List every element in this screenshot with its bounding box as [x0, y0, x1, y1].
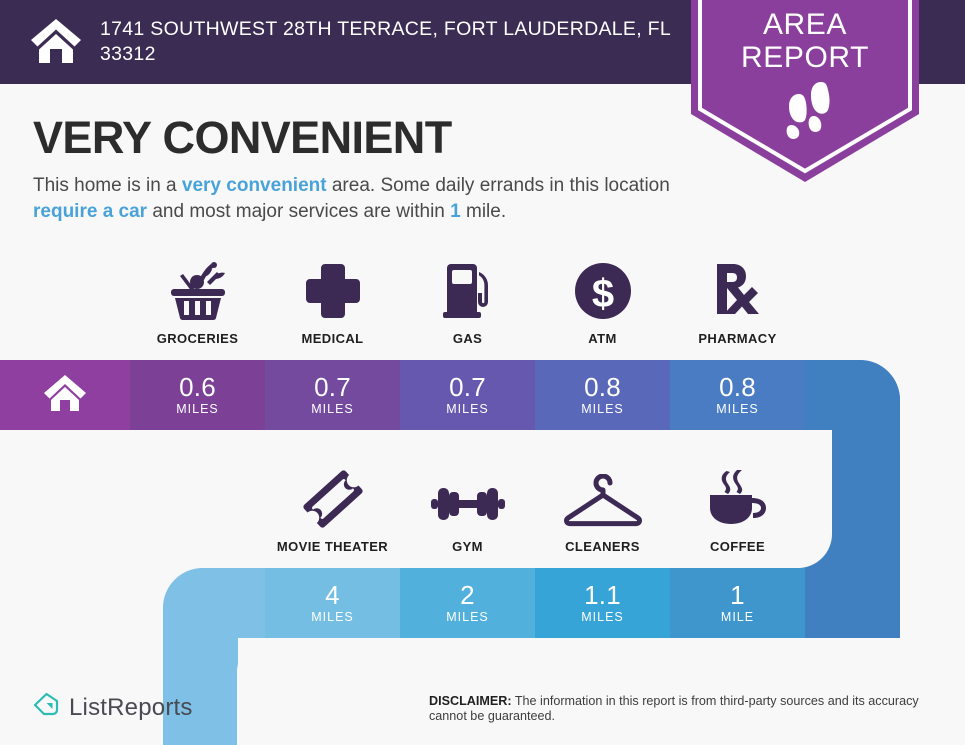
category-pharmacy: PHARMACY — [670, 258, 805, 346]
category-cleaners: CLEANERS — [535, 466, 670, 554]
distance-value: 2 — [460, 582, 475, 609]
dumbbell-icon — [429, 466, 507, 528]
distance-value: 4 — [325, 582, 340, 609]
row1-distance-bar: 0.6 MILES 0.7 MILES 0.7 MILES 0.8 MILES … — [0, 360, 900, 430]
distance-cell-medical: 0.7 MILES — [265, 360, 400, 430]
svg-text:$: $ — [591, 272, 613, 316]
listreports-logo-text: ListReports — [69, 694, 193, 722]
hanger-icon — [560, 466, 646, 528]
badge-line-1: AREA — [691, 8, 919, 41]
distance-unit: MILES — [581, 610, 624, 624]
summary-highlight-3: 1 — [450, 201, 461, 222]
distance-unit: MILES — [176, 402, 219, 416]
summary-highlight-1: very convenient — [182, 175, 327, 196]
distance-value: 1 — [730, 582, 745, 609]
disclaimer: DISCLAIMER: The information in this repo… — [429, 694, 929, 724]
category-coffee: COFFEE — [670, 466, 805, 554]
distance-value: 0.6 — [179, 374, 216, 401]
distance-cell-groceries: 0.6 MILES — [130, 360, 265, 430]
home-icon — [30, 15, 82, 70]
category-label: CLEANERS — [565, 539, 640, 554]
distance-unit: MILES — [446, 402, 489, 416]
distance-unit: MILES — [311, 402, 354, 416]
category-label: GYM — [452, 539, 483, 554]
listreports-logo[interactable]: ListReports — [33, 692, 193, 724]
atm-dollar-icon: $ — [574, 258, 632, 320]
bar2-tail — [805, 568, 900, 638]
medical-cross-icon — [304, 258, 362, 320]
distance-value: 0.7 — [449, 374, 486, 401]
summary-part-1: This home is in a — [33, 175, 182, 196]
category-label: COFFEE — [710, 539, 765, 554]
bar2-lead — [163, 568, 265, 638]
distance-unit: MILES — [581, 402, 624, 416]
category-gym: GYM — [400, 466, 535, 554]
movie-ticket-icon — [302, 466, 364, 528]
category-atm: $ ATM — [535, 258, 670, 346]
distance-unit: MILE — [721, 610, 754, 624]
page-title: VERY CONVENIENT — [33, 112, 452, 164]
row2-distance-bar: 4 MILES 2 MILES 1.1 MILES 1 MILE — [163, 568, 900, 638]
distance-cell-gas: 0.7 MILES — [400, 360, 535, 430]
category-medical: MEDICAL — [265, 258, 400, 346]
summary-text: This home is in a very convenient area. … — [33, 173, 693, 225]
category-label: MEDICAL — [301, 331, 363, 346]
disclaimer-label: DISCLAIMER: — [429, 694, 512, 708]
distance-cell-gym: 2 MILES — [400, 568, 535, 638]
distance-value: 0.8 — [719, 374, 756, 401]
row1-icons: GROCERIES MEDICAL GAS — [130, 258, 805, 346]
pharmacy-rx-icon — [709, 258, 767, 320]
distance-unit: MILES — [716, 402, 759, 416]
badge-line-2: REPORT — [691, 41, 919, 74]
distance-unit: MILES — [311, 610, 354, 624]
distance-unit: MILES — [446, 610, 489, 624]
badge-text: AREA REPORT — [691, 8, 919, 74]
summary-part-4: mile. — [461, 201, 506, 222]
distance-cell-cleaners: 1.1 MILES — [535, 568, 670, 638]
category-gas: GAS — [400, 258, 535, 346]
row2-icons: MOVIE THEATER GYM — [265, 466, 805, 554]
distance-value: 1.1 — [584, 582, 621, 609]
home-cell — [0, 360, 130, 430]
category-label: ATM — [588, 331, 616, 346]
distance-cell-atm: 0.8 MILES — [535, 360, 670, 430]
distance-value: 0.8 — [584, 374, 621, 401]
property-address: 1741 SOUTHWEST 28TH TERRACE, FORT LAUDER… — [100, 17, 700, 67]
category-label: MOVIE THEATER — [277, 539, 388, 554]
summary-part-3: and most major services are within — [147, 201, 450, 222]
groceries-basket-icon — [167, 258, 229, 320]
distance-cell-pharmacy: 0.8 MILES — [670, 360, 805, 430]
summary-highlight-2: require a car — [33, 201, 147, 222]
white-inset-card-bottom — [237, 638, 900, 745]
area-report-badge: AREA REPORT — [691, 0, 919, 182]
category-label: GAS — [453, 331, 482, 346]
gas-pump-icon — [439, 258, 497, 320]
distance-cell-coffee: 1 MILE — [670, 568, 805, 638]
home-icon — [43, 373, 87, 418]
distance-cell-movie-theater: 4 MILES — [265, 568, 400, 638]
summary-part-2: area. Some daily errands in this locatio… — [327, 175, 670, 196]
coffee-cup-icon — [706, 466, 770, 528]
listreports-pin-icon — [33, 692, 60, 724]
category-movie-theater: MOVIE THEATER — [265, 466, 400, 554]
area-report-infographic: 1741 SOUTHWEST 28TH TERRACE, FORT LAUDER… — [0, 0, 965, 745]
bar1-tail — [805, 360, 900, 430]
category-label: PHARMACY — [698, 331, 776, 346]
category-label: GROCERIES — [157, 331, 239, 346]
category-groceries: GROCERIES — [130, 258, 265, 346]
distance-value: 0.7 — [314, 374, 351, 401]
